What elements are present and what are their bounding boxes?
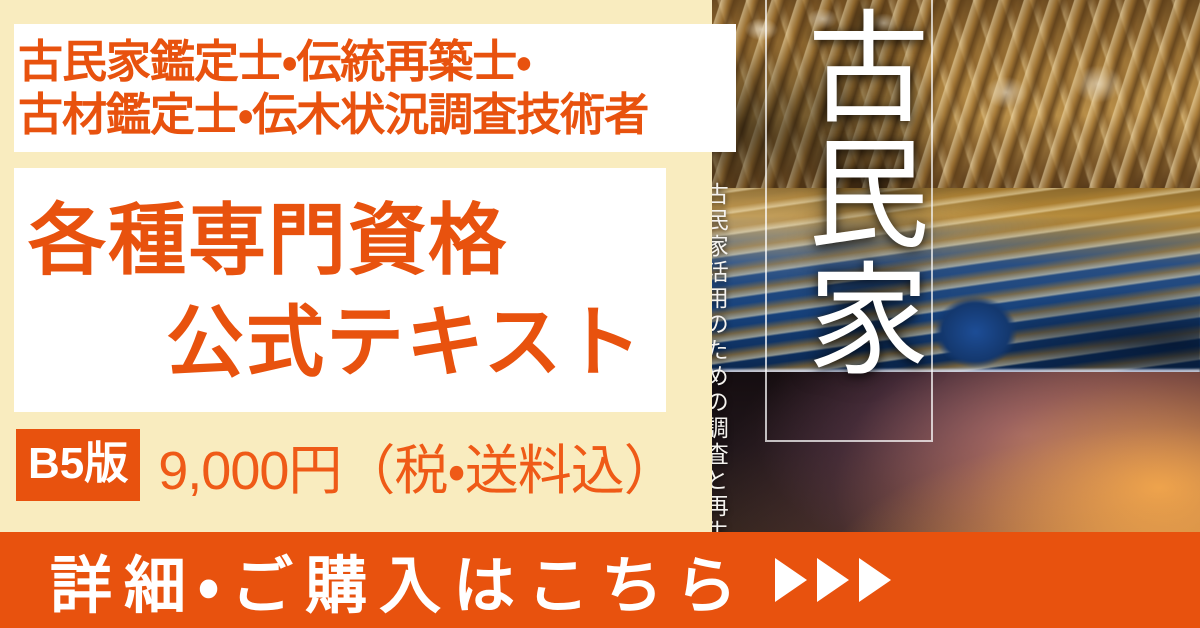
book-cover-image: 古民家 伝統構法 古民家活用のための調査と再生の xyxy=(690,0,1200,582)
format-badge: B5版 xyxy=(16,429,140,501)
cta-label: 詳細・ご購入はこちら xyxy=(50,535,749,625)
price-row: B5版 9,000円（税・送料込） xyxy=(16,428,677,502)
main-headline-line1: 各種専門資格 xyxy=(28,194,508,286)
chevron-right-icon xyxy=(817,558,849,602)
book-cover-title: 古民家 xyxy=(768,4,928,434)
qualifications-headline: 古民家鑑定士・伝統再築士・ 古材鑑定士・伝木状況調査技術者 xyxy=(18,26,734,150)
qualifications-headline-line1: 古民家鑑定士・伝統再築士・ xyxy=(18,35,734,88)
chevron-right-icon xyxy=(859,558,891,602)
cta-arrows xyxy=(775,558,891,602)
promo-banner: 古民家 伝統構法 古民家活用のための調査と再生の 古民家鑑定士・伝統再築士・ 古… xyxy=(0,0,1200,628)
chevron-right-icon xyxy=(775,558,807,602)
main-headline: 各種専門資格 公式テキスト xyxy=(14,170,666,410)
cta-bar[interactable]: 詳細・ご購入はこちら xyxy=(0,532,1200,628)
main-headline-line2: 公式テキスト xyxy=(166,296,644,388)
qualifications-headline-line2: 古材鑑定士・伝木状況調査技術者 xyxy=(18,88,734,141)
price-amount: 9,000円（税・送料込） xyxy=(158,426,677,505)
